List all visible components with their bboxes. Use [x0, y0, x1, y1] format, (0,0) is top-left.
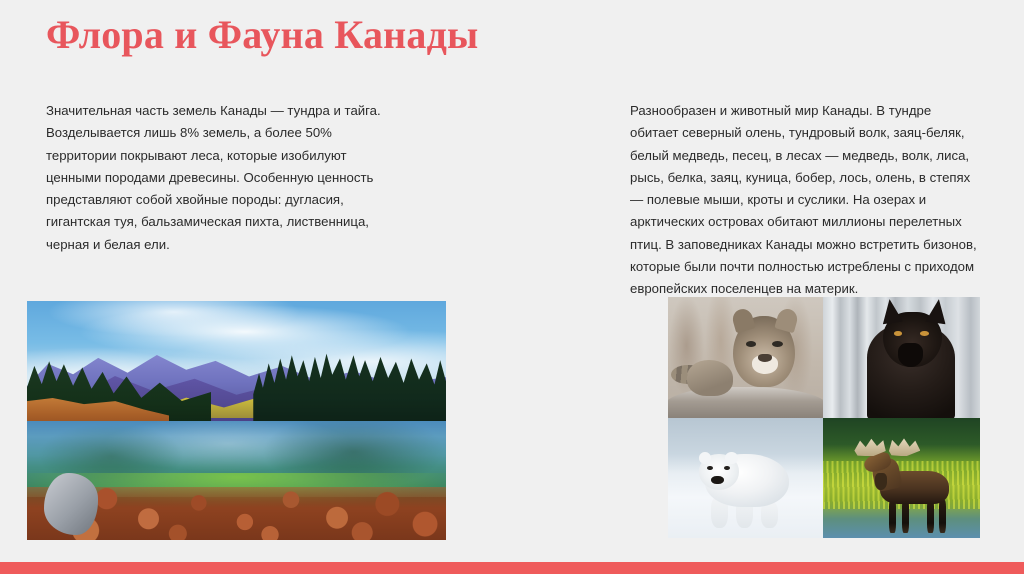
cougar-eye-left	[746, 341, 757, 347]
snowy-log	[668, 387, 823, 418]
wolf-ear-left	[879, 298, 903, 325]
moose-leg-4	[939, 500, 946, 534]
moose-leg-1	[889, 500, 896, 534]
page-title: Флора и Фауна Канады	[46, 12, 478, 58]
cougar-paw	[687, 360, 734, 396]
moose-photo	[823, 418, 980, 538]
polar-bear-photo	[668, 418, 823, 538]
moose-leg-2	[902, 500, 909, 534]
black-wolf-photo	[823, 297, 980, 418]
moose-leg-3	[927, 500, 934, 534]
presentation-slide: Флора и Фауна Канады Значительная часть …	[0, 0, 1024, 574]
right-column-paragraph: Разнообразен и животный мир Канады. В ту…	[630, 100, 982, 301]
moose-antler-right	[889, 437, 920, 456]
left-column-paragraph: Значительная часть земель Канады — тундр…	[46, 100, 402, 256]
cougar-photo	[668, 297, 823, 418]
wolf-eye-left	[894, 331, 903, 336]
bear-ear-left	[699, 452, 711, 464]
cougar-eye-right	[772, 341, 783, 347]
bear-nose	[711, 476, 723, 484]
wolf-eye-right	[920, 331, 929, 336]
grey-boulder	[44, 473, 98, 535]
bear-ear-right	[725, 452, 737, 464]
mountain-lake-landscape-image	[27, 301, 446, 540]
bottom-accent-bar	[0, 562, 1024, 574]
animal-photo-grid	[668, 297, 980, 538]
wolf-ear-right	[925, 298, 949, 325]
